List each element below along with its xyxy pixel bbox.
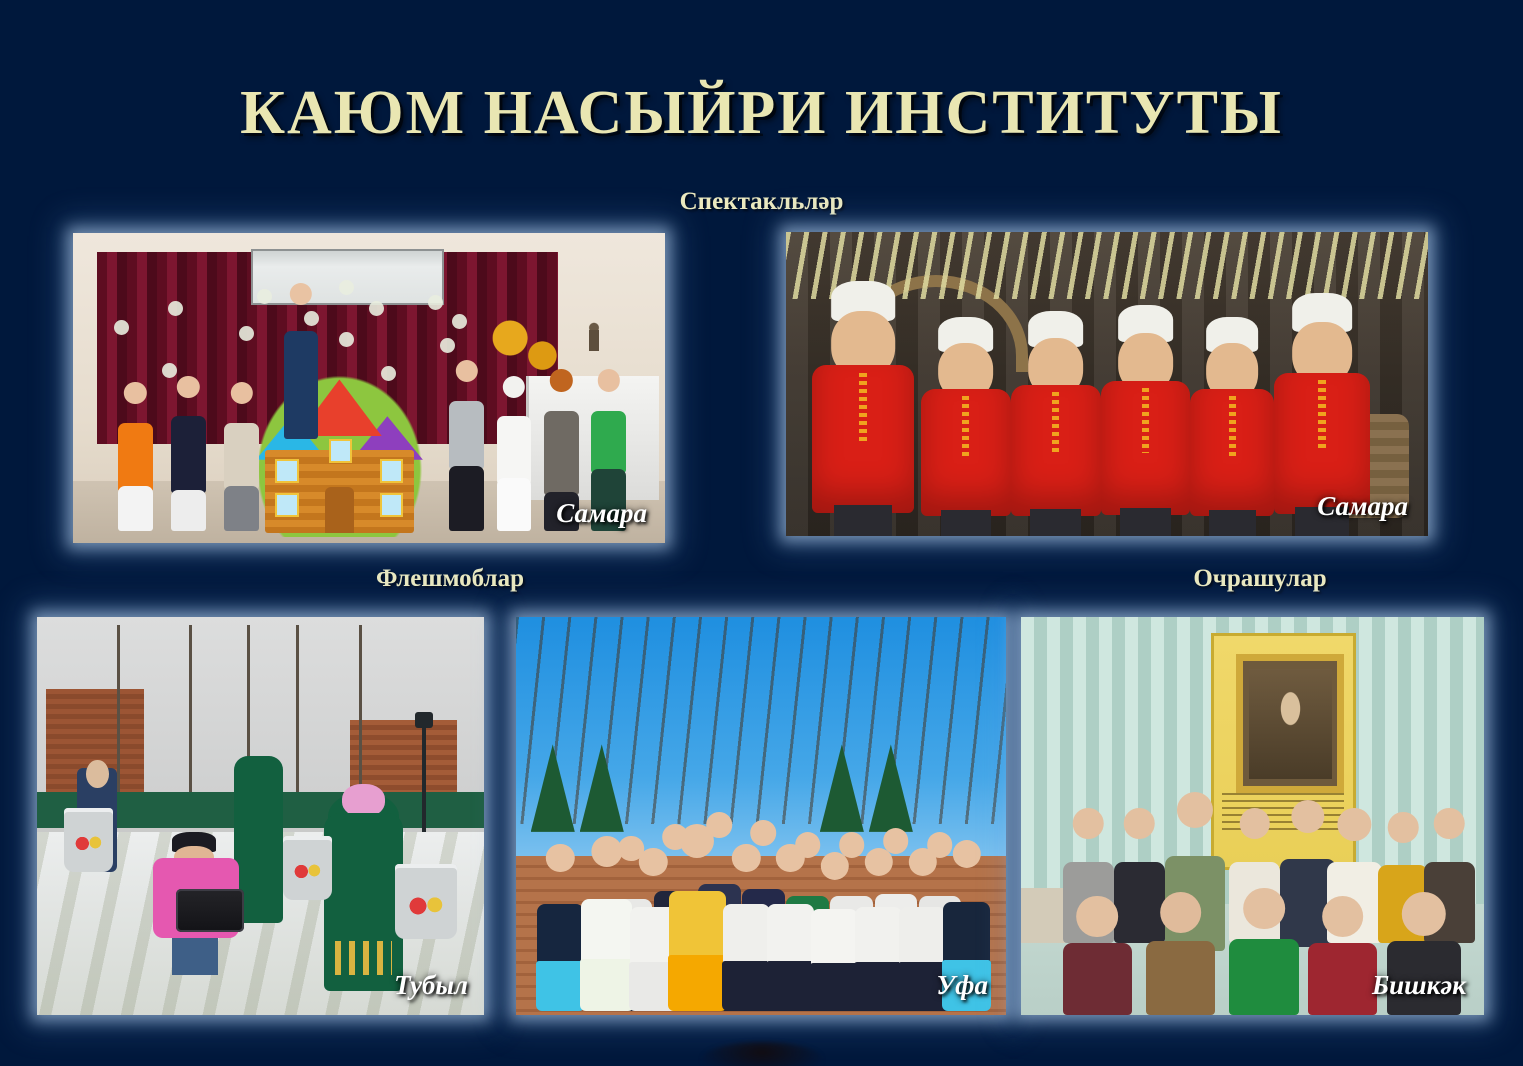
- photo-samara-theatre[interactable]: Самара: [73, 233, 665, 543]
- section-label-spektakller: Спектакльләр: [0, 188, 1523, 216]
- photo-caption: Самара: [556, 498, 647, 529]
- photo-scene: [73, 233, 665, 543]
- photo-samara-costumes[interactable]: Самара: [786, 232, 1428, 536]
- photo-ufa-flashmob[interactable]: Уфа: [516, 617, 1006, 1015]
- section-label-fleshmoblar: Флешмоблар: [300, 565, 600, 593]
- photo-caption: Тубыл: [394, 970, 468, 1001]
- bottom-decoration: [702, 1042, 822, 1066]
- accordion-player: [153, 832, 269, 975]
- photo-caption: Уфа: [936, 970, 988, 1001]
- section-label-ochrashular: Очрашулар: [1110, 565, 1410, 593]
- photo-scene: [37, 617, 484, 1015]
- photo-caption: Самара: [1317, 491, 1408, 522]
- photo-caption: Бишкәк: [1372, 970, 1466, 1001]
- photo-scene: [516, 617, 1006, 1015]
- photo-bishkek-meeting[interactable]: Бишкәк: [1021, 617, 1484, 1015]
- presentation-slide: КАЮМ НАСЫЙРИ ИНСТИТУТЫ Спектакльләр Флеш…: [0, 0, 1523, 1066]
- fairy-tale-house-prop: [251, 369, 429, 536]
- page-title: КАЮМ НАСЫЙРИ ИНСТИТУТЫ: [0, 78, 1523, 149]
- photo-tubyl-flashmob[interactable]: Тубыл: [37, 617, 484, 1015]
- photo-scene: [1021, 617, 1484, 1015]
